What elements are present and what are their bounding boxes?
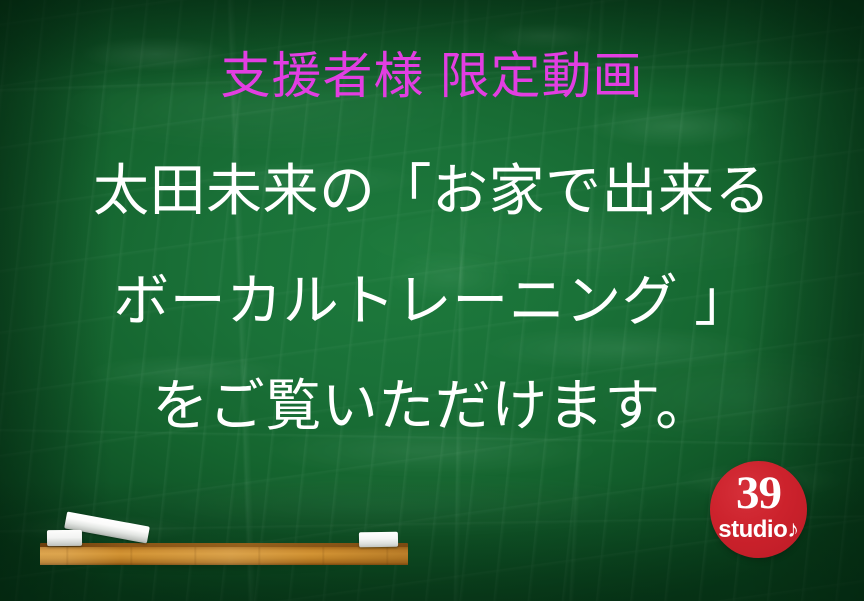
- chalkboard-slide: 支援者様 限定動画 太田未来の「お家で出来る ボーカルトレーニング 」 をご覧い…: [0, 0, 864, 601]
- ledge-drop-shadow: [6, 564, 406, 580]
- chalk-stick-small: [47, 530, 82, 546]
- body-line-3: をご覧いただけます。: [0, 375, 864, 438]
- chalk-stick-right: [359, 532, 398, 548]
- chalk-stick-right-body: [359, 532, 398, 548]
- logo-number: 39: [710, 470, 807, 517]
- body-line-2: ボーカルトレーニング 」: [0, 270, 864, 333]
- studio-logo-badge: 39 studio♪: [710, 461, 807, 558]
- logo-wordmark: studio♪: [710, 518, 807, 542]
- slide-title: 支援者様 限定動画: [0, 49, 864, 104]
- ledge-front-face: [40, 547, 408, 565]
- body-line-1: 太田未来の「お家で出来る: [0, 160, 864, 223]
- chalk-ledge: [40, 543, 408, 565]
- chalk-stick-small-body: [47, 530, 82, 546]
